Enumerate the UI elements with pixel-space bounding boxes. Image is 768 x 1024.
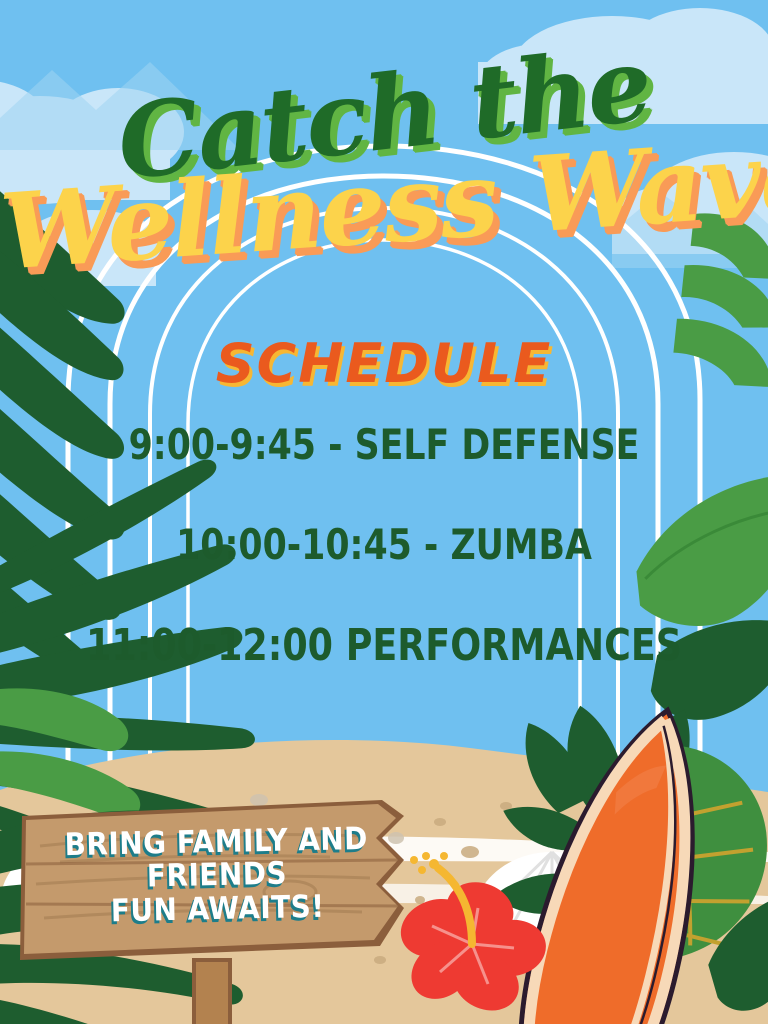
sign-message: BRING FAMILY AND FRIENDS FUN AWAITS!: [51, 823, 383, 930]
sign-line-3: FUN AWAITS!: [52, 889, 383, 929]
schedule-list: 9:00-9:45 - SELF DEFENSE 10:00-10:45 - Z…: [0, 424, 768, 668]
schedule-item: 11:00-12:00 PERFORMANCES: [31, 624, 738, 668]
poster-canvas: Catch the Wellness Wave SCHEDULE 9:00-9:…: [0, 0, 768, 1024]
schedule-item: 10:00-10:45 - ZUMBA: [31, 524, 738, 566]
sign-post: [194, 960, 230, 1024]
schedule-item: 9:00-9:45 - SELF DEFENSE: [31, 424, 738, 466]
schedule-title: SCHEDULE: [0, 332, 768, 395]
